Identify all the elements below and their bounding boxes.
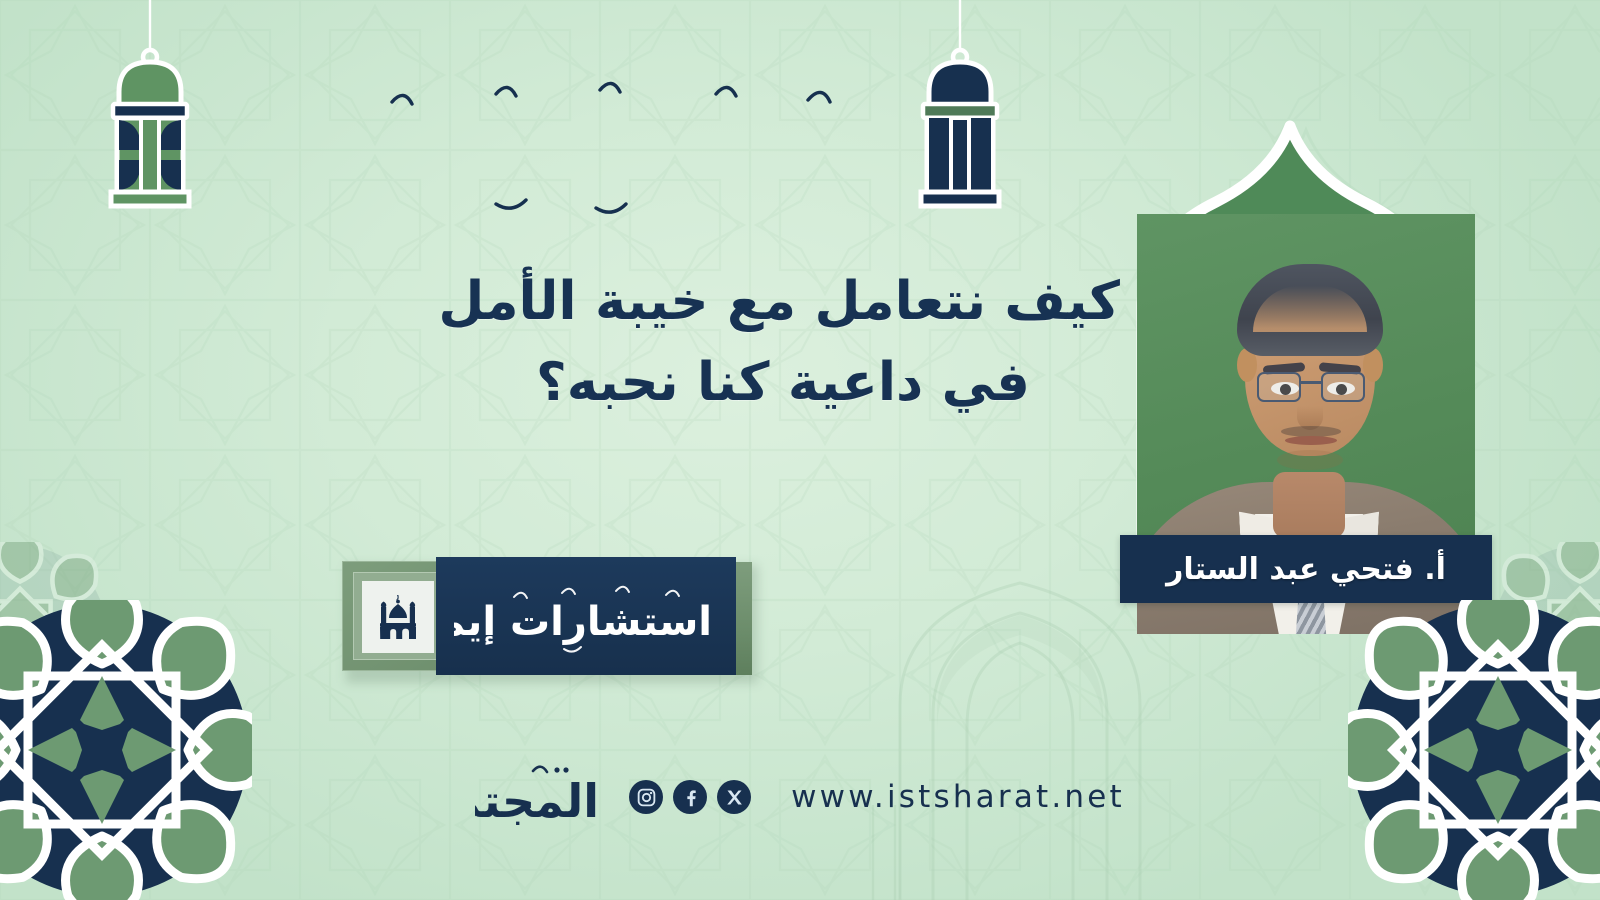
- banner-label-box: استشارات إيمانية: [436, 557, 736, 675]
- title-line-1: كيف نتعامل مع خيبة الأمل: [910, 262, 1120, 343]
- x-twitter-icon[interactable]: [717, 780, 751, 814]
- rosette-bottom-left: [0, 600, 252, 900]
- social-links: [629, 780, 751, 814]
- banner-right-bar: [736, 562, 752, 675]
- brand-calligraphy: بوابة الاستشارات الإلكترونية: [196, 58, 916, 228]
- instagram-icon[interactable]: [629, 780, 663, 814]
- mujtama-logo-text: المجتمع: [475, 774, 599, 828]
- website-url[interactable]: www.istsharat.net: [791, 779, 1125, 815]
- title-line-2: في داعية كنا نحبه؟: [910, 343, 1030, 424]
- mosque-icon: [362, 581, 434, 653]
- footer-bar: المجتمع: [0, 752, 1600, 842]
- poster-canvas: بوابة الاستشارات الإلكترونية كيف نتعامل …: [0, 0, 1600, 900]
- speaker-name: أ. فتحي عبد الستار: [1166, 552, 1446, 587]
- mujtama-logo: المجتمع: [475, 755, 603, 839]
- facebook-icon[interactable]: [673, 780, 707, 814]
- category-banner[interactable]: استشارات إيمانية: [342, 557, 754, 675]
- brand-calligraphy-text: بوابة الاستشارات الإلكترونية: [912, 95, 916, 196]
- speaker-name-plate: أ. فتحي عبد الستار: [1120, 535, 1492, 603]
- rosette-bottom-right: [1348, 600, 1600, 900]
- hanging-lantern-right: [905, 0, 1015, 215]
- banner-label-text: استشارات إيمانية: [454, 599, 712, 645]
- hanging-lantern-left: [95, 0, 205, 215]
